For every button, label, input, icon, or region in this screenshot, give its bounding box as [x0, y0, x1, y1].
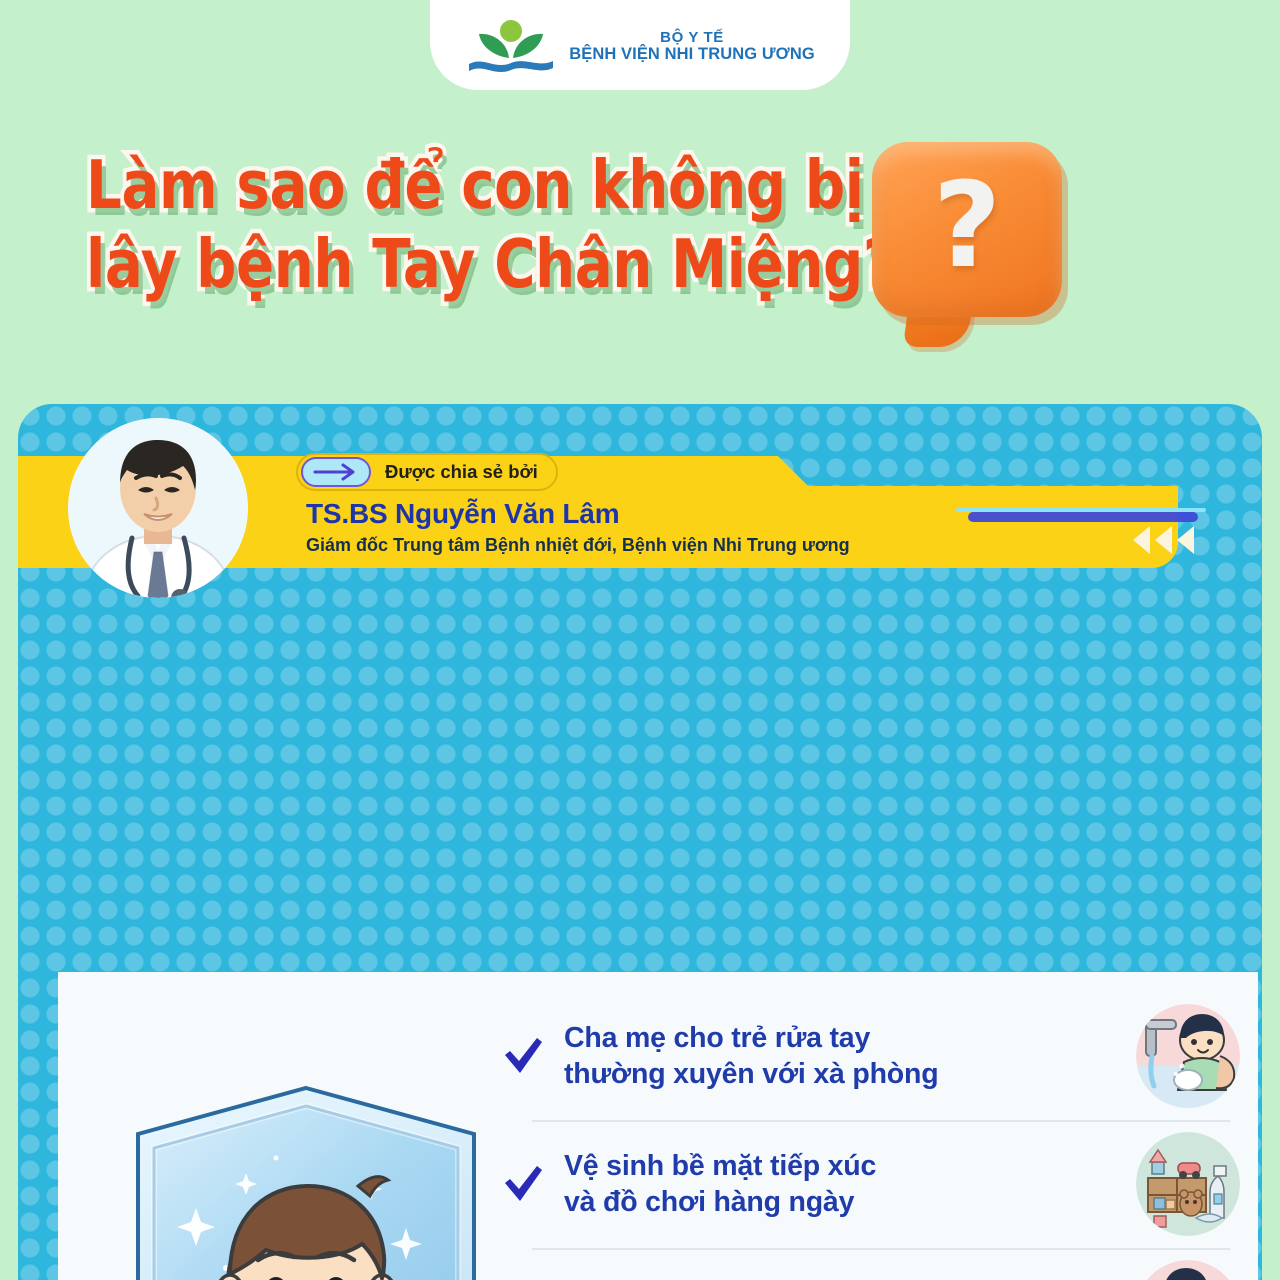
hospital-header-band: BỘ Y TẾ BỆNH VIỆN NHI TRUNG ƯƠNG [430, 0, 850, 90]
list-item[interactable]: Cha mẹ cho trẻ rửa tay thường xuyên với … [500, 992, 1240, 1120]
list-item-text: Cha mẹ cho trẻ rửa tay thường xuyên với … [564, 1020, 1118, 1093]
list-item-line1: Vệ sinh bề mặt tiếp xúc [564, 1150, 876, 1182]
check-icon [500, 1036, 546, 1076]
banner-accent-blue [968, 512, 1198, 522]
toy-cleaning-illustration-icon [1136, 1132, 1240, 1236]
ministry-label: BỘ Y TẾ [569, 30, 815, 46]
infographic-root: BỘ Y TẾ BỆNH VIỆN NHI TRUNG ƯƠNG Làm sao… [0, 0, 1280, 1280]
doctor-name: TS.BS Nguyễn Văn Lâm [306, 498, 619, 530]
list-item-line2: và đồ chơi hàng ngày [564, 1184, 1118, 1220]
question-mark-speech-bubble-icon: ? [872, 142, 1062, 317]
hospital-logo: BỘ Y TẾ BỆNH VIỆN NHI TRUNG ƯƠNG [465, 18, 815, 76]
check-icon [500, 1164, 546, 1204]
handwashing-illustration-icon [1136, 1004, 1240, 1108]
arrow-right-icon [301, 457, 371, 487]
hospital-logo-text: BỘ Y TẾ BỆNH VIỆN NHI TRUNG ƯƠNG [569, 30, 815, 63]
list-item[interactable]: Vệ sinh bề mặt tiếp xúc và đồ chơi hàng … [500, 1120, 1240, 1248]
shared-by-label: Được chia sẻ bởi [385, 461, 538, 483]
shared-by-badge: Được chia sẻ bởi [296, 453, 558, 491]
list-item[interactable]: Ăn chín, uống sôi [500, 1248, 1240, 1280]
page-title: Làm sao để con không bị lây bệnh Tay Châ… [86, 152, 876, 310]
child-eating-cooked-food-illustration-icon [1136, 1260, 1240, 1280]
checklist-panel: Cha mẹ cho trẻ rửa tay thường xuyên với … [58, 972, 1258, 1280]
title-line-2: lây bệnh Tay Chân Miệng? [86, 231, 750, 298]
question-mark-glyph: ? [872, 142, 1062, 317]
triple-left-chevron-icon[interactable] [1133, 526, 1194, 554]
leaf-sun-wave-logo-icon [465, 18, 557, 76]
checklist: Cha mẹ cho trẻ rửa tay thường xuyên với … [500, 992, 1240, 1280]
doctor-role: Giám đốc Trung tâm Bệnh nhiệt đới, Bệnh … [306, 535, 850, 556]
doctor-portrait-avatar-icon [68, 418, 248, 598]
list-item-line1: Cha mẹ cho trẻ rửa tay [564, 1022, 870, 1054]
title-line-1: Làm sao để con không bị [86, 152, 750, 219]
list-item-text: Vệ sinh bề mặt tiếp xúc và đồ chơi hàng … [564, 1148, 1118, 1221]
shield-with-child-illustration-icon [106, 1068, 506, 1280]
list-item-line2: thường xuyên với xà phòng [564, 1056, 1118, 1092]
hospital-label: BỆNH VIỆN NHI TRUNG ƯƠNG [569, 46, 815, 63]
